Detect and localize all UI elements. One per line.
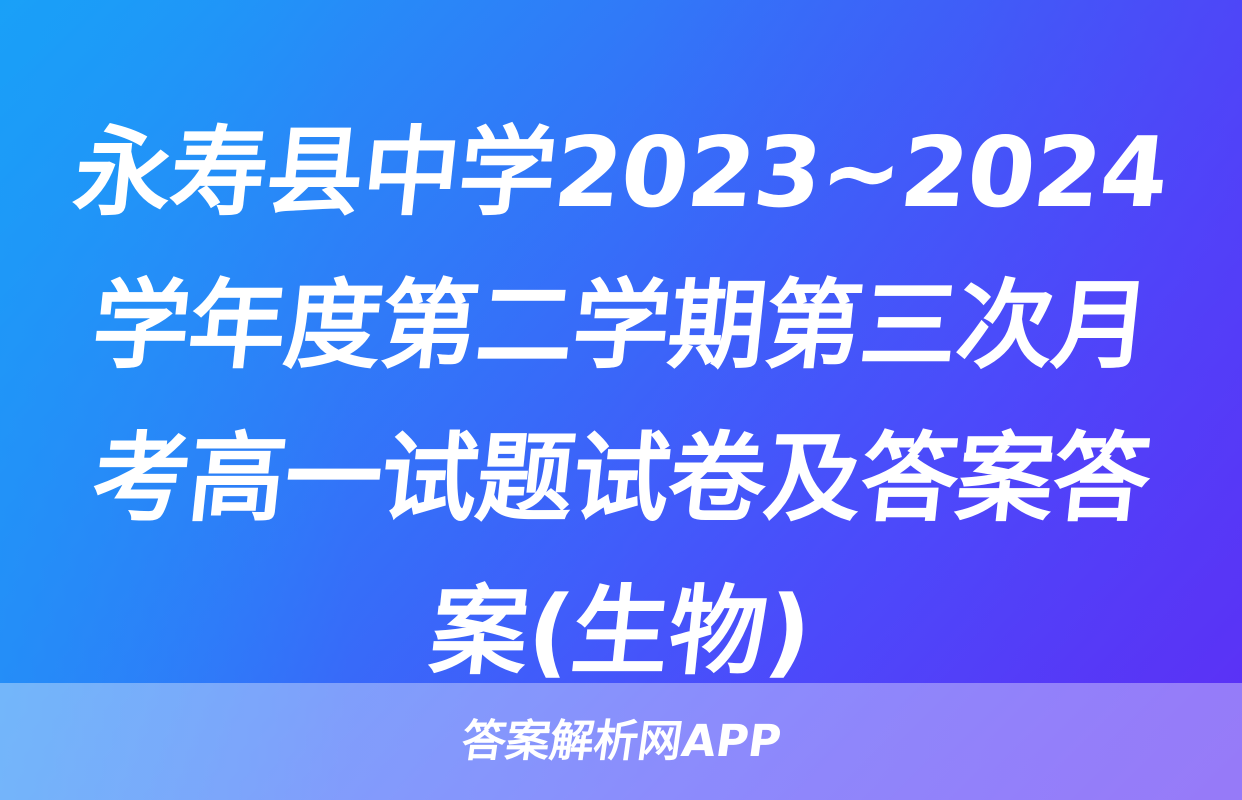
footer-brand-bar: 答案解析网APP: [0, 683, 1242, 800]
cover-image: 永寿县中学2023~2024 学年度第二学期第三次月 考高一试题试卷及答案答 案…: [0, 0, 1242, 800]
title-line-2: 学年度第二学期第三次月: [50, 249, 1192, 402]
hero-title: 永寿县中学2023~2024 学年度第二学期第三次月 考高一试题试卷及答案答 案…: [0, 96, 1242, 708]
app-brand-label: 答案解析网APP: [458, 717, 784, 767]
title-line-1: 永寿县中学2023~2024: [50, 96, 1192, 249]
title-line-3: 考高一试题试卷及答案答: [50, 402, 1192, 555]
